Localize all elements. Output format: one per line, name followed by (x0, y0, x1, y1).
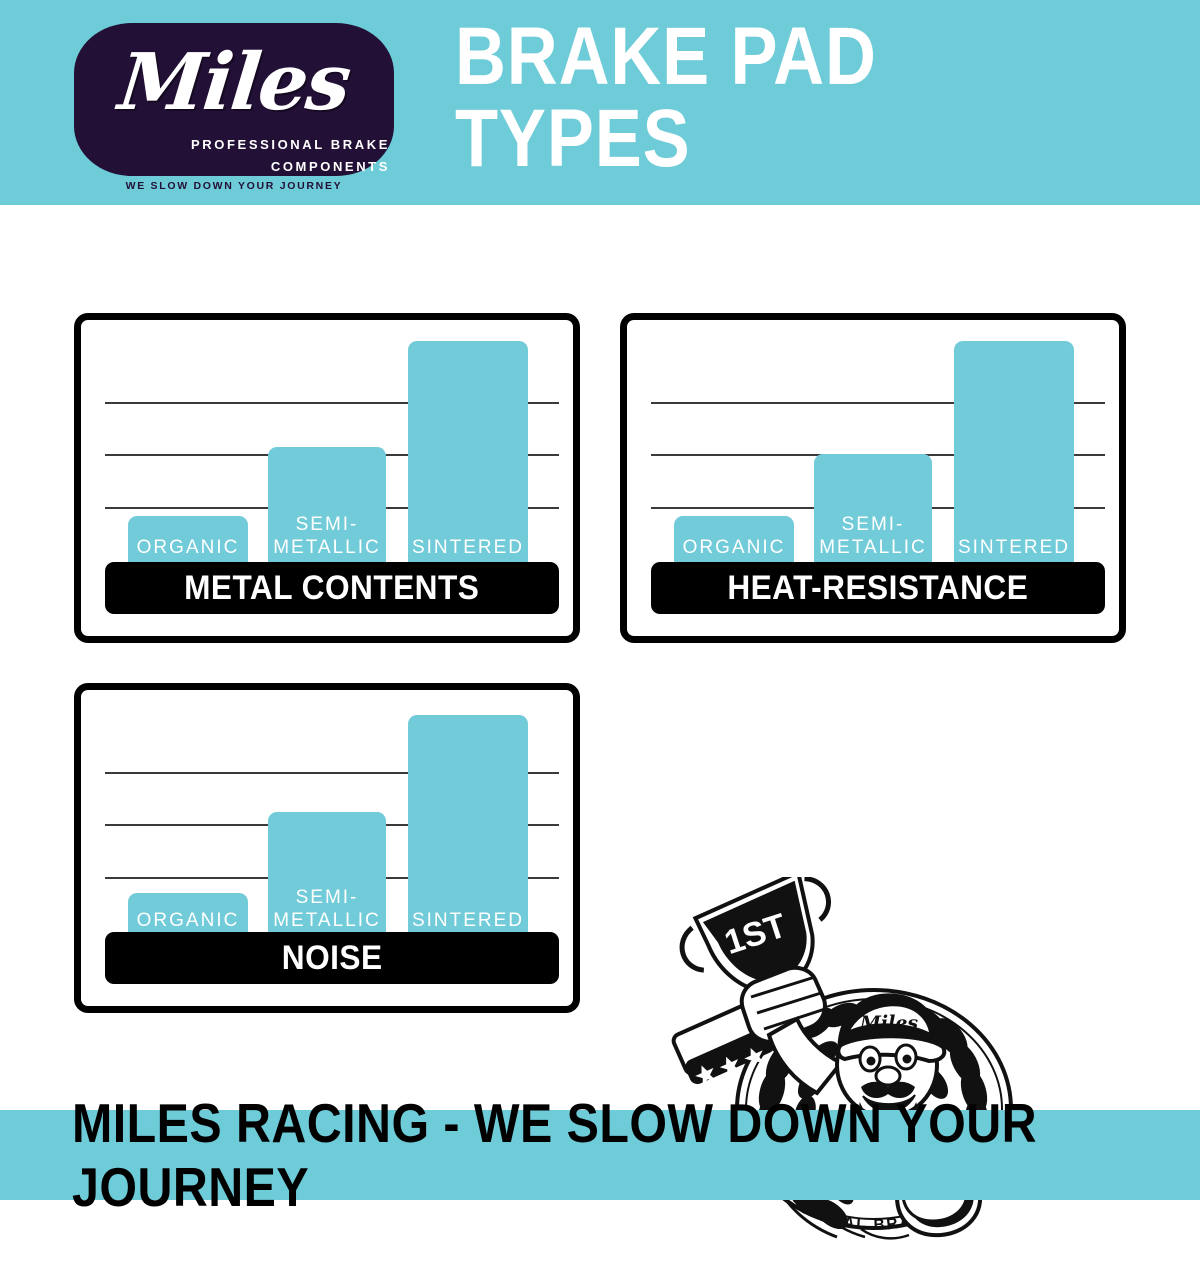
infographic-page: Miles PROFESSIONAL BRAKE COMPONENTS WE S… (0, 0, 1200, 1200)
chart-card-metal-contents: ORGANIC SEMI- METALLIC SINTERED METAL CO… (74, 313, 580, 643)
cap-logo-text: Miles (859, 1012, 919, 1034)
logo-tagline: WE SLOW DOWN YOUR JOURNEY (74, 180, 394, 192)
chart-title: HEAT-RESISTANCE (728, 569, 1029, 608)
bar-label-semi-metallic: SEMI- METALLIC (814, 513, 932, 559)
chart-title: NOISE (282, 939, 383, 978)
page-title: BRAKE PAD TYPES (455, 48, 1057, 148)
chart-title-bar: METAL CONTENTS (105, 562, 559, 614)
chart-title-bar: NOISE (105, 932, 559, 984)
bar-label-semi-metallic: SEMI- METALLIC (268, 513, 386, 559)
bar-label-organic: ORGANIC (128, 536, 248, 559)
logo-script-text: Miles (68, 23, 400, 141)
chart-card-heat-resistance: ORGANIC SEMI- METALLIC SINTERED HEAT-RES… (620, 313, 1126, 643)
header-banner: Miles PROFESSIONAL BRAKE COMPONENTS WE S… (0, 0, 1200, 205)
charts-area: ORGANIC SEMI- METALLIC SINTERED METAL CO… (0, 205, 1200, 1110)
bar-label-sintered: SINTERED (408, 536, 528, 559)
bar-label-organic: ORGANIC (128, 909, 248, 932)
bar-label-organic: ORGANIC (674, 536, 794, 559)
bar-label-sintered: SINTERED (954, 536, 1074, 559)
chart-title-bar: HEAT-RESISTANCE (651, 562, 1105, 614)
chart-card-noise: ORGANIC SEMI- METALLIC SINTERED NOISE (74, 683, 580, 1013)
logo-subtitle-line1: PROFESSIONAL BRAKE (100, 137, 390, 152)
bar-label-semi-metallic: SEMI- METALLIC (268, 886, 386, 932)
bar-label-sintered: SINTERED (408, 909, 528, 932)
logo-subtitle-line2: COMPONENTS (100, 159, 390, 174)
footer-banner: MILES RACING - WE SLOW DOWN YOUR JOURNEY (0, 1110, 1200, 1200)
chart-title: METAL CONTENTS (184, 569, 479, 608)
miles-logo-badge: Miles PROFESSIONAL BRAKE COMPONENTS (74, 23, 394, 176)
